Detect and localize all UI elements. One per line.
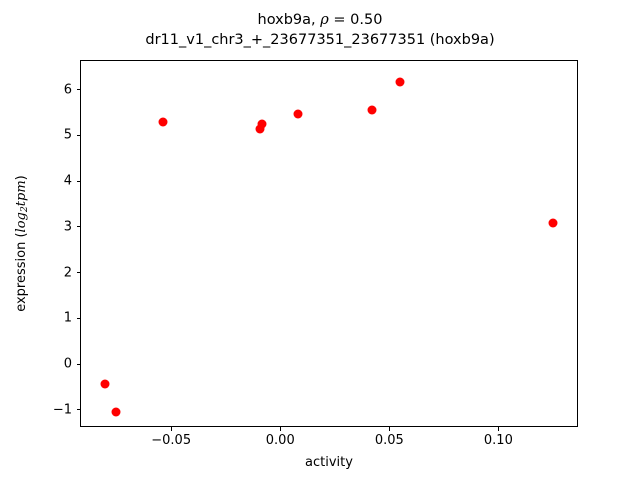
x-tick-label: 0.00	[266, 433, 295, 448]
y-axis-label-subscript: 2	[19, 206, 30, 212]
title-rho-stat: , ρ = 0.50	[311, 12, 382, 28]
y-tick-mark	[77, 318, 81, 319]
scatter-point	[258, 120, 267, 129]
x-tick-label: 0.05	[375, 433, 404, 448]
figure-title-line-1: hoxb9a, ρ = 0.50	[0, 10, 640, 30]
scatter-point	[112, 407, 121, 416]
y-tick-mark	[77, 135, 81, 136]
scatter-point	[100, 380, 109, 389]
figure-title-line-2: dr11_v1_chr3_+_23677351_23677351 (hoxb9a…	[0, 30, 640, 50]
y-tick-label: 5	[64, 128, 72, 143]
scatter-point	[159, 118, 168, 127]
y-tick-mark	[77, 409, 81, 410]
scatter-point	[396, 78, 405, 87]
scatter-point	[549, 219, 558, 228]
scatter-plot-figure: hoxb9a, ρ = 0.50 dr11_v1_chr3_+_23677351…	[0, 0, 640, 480]
y-tick-mark	[77, 364, 81, 365]
plot-data-area	[81, 61, 577, 426]
y-axis-label: expression (log2tpm)	[13, 60, 31, 427]
y-tick-label: −1	[53, 402, 72, 417]
y-axis-label-suffix: )	[14, 175, 29, 180]
y-tick-mark	[77, 89, 81, 90]
y-tick-label: 1	[64, 311, 72, 326]
y-tick-label: 4	[64, 174, 72, 189]
scatter-point	[368, 105, 377, 114]
x-axis-label: activity	[80, 455, 578, 470]
x-tick-label: −0.05	[151, 433, 191, 448]
plot-axes-frame	[80, 60, 578, 427]
y-tick-label: 6	[64, 82, 72, 97]
y-axis-label-tpm: tpm	[14, 180, 29, 206]
x-tick-label: 0.10	[484, 433, 513, 448]
y-tick-label: 3	[64, 219, 72, 234]
x-tick-mark	[280, 427, 281, 431]
y-axis-label-prefix: expression (	[14, 232, 29, 311]
y-tick-mark	[77, 272, 81, 273]
title-gene-name: hoxb9a	[258, 12, 312, 28]
x-tick-mark	[171, 427, 172, 431]
y-tick-mark	[77, 181, 81, 182]
x-tick-mark	[498, 427, 499, 431]
y-axis-label-log: log	[14, 212, 29, 232]
x-tick-mark	[389, 427, 390, 431]
y-tick-mark	[77, 226, 81, 227]
figure-title: hoxb9a, ρ = 0.50 dr11_v1_chr3_+_23677351…	[0, 10, 640, 50]
y-tick-label: 2	[64, 265, 72, 280]
scatter-point	[294, 109, 303, 118]
y-tick-label: 0	[64, 357, 72, 372]
